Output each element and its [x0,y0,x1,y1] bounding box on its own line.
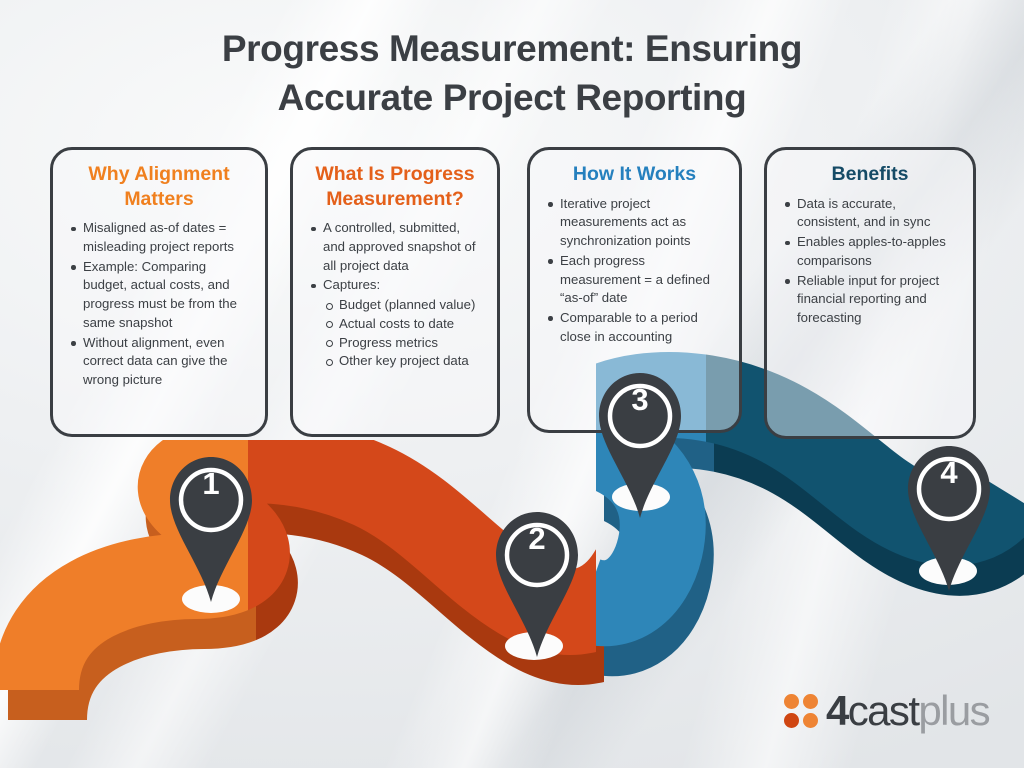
list-item: Reliable input for project financial rep… [780,272,960,328]
logo-dot [784,713,799,728]
list-item: Comparable to a period close in accounti… [543,309,726,346]
bullet-text: Iterative project measurements act as sy… [560,195,726,251]
bullet-text: Reliable input for project financial rep… [797,272,960,328]
page-title: Progress Measurement: Ensuring Accurate … [0,24,1024,122]
bullet-text: Enables apples-to-apples comparisons [797,233,960,270]
bullet-text: Without alignment, even correct data can… [83,334,252,390]
list-item: Captures: Budget (planned value) Actual … [306,276,484,371]
list-item: A controlled, submitted, and approved sn… [306,219,484,275]
card-title: What Is Progress Measurement? [306,162,484,211]
bullet-text: Captures: [323,276,484,295]
page-title-line-2: Accurate Project Reporting [0,73,1024,122]
card-bullet-list: Data is accurate, consistent, and in syn… [780,195,960,328]
list-item: Without alignment, even correct data can… [66,334,252,390]
sub-list-item: Budget (planned value) [323,296,484,315]
logo-word-part-1: 4 [826,687,848,734]
step-marker-2: 2 [494,510,580,660]
map-pin-icon [168,455,254,605]
bullet-text: Misaligned as-of dates = misleading proj… [83,219,252,256]
step-marker-3: 3 [597,371,683,521]
card-bullet-list: Misaligned as-of dates = misleading proj… [66,219,252,390]
card-title: Why Alignment Matters [66,162,252,211]
sub-list-item: Progress metrics [323,334,484,353]
list-item: Data is accurate, consistent, and in syn… [780,195,960,232]
card-title: Benefits [780,162,960,187]
brand-logo: 4castplus [784,690,989,732]
bullet-text: Each progress measurement = a defined “a… [560,252,726,308]
info-card-benefits: Benefits Data is accurate, consistent, a… [764,147,976,439]
logo-word-part-2: cast [848,687,919,734]
map-pin-icon [906,444,992,594]
list-item: Misaligned as-of dates = misleading proj… [66,219,252,256]
step-marker-1: 1 [168,455,254,605]
bullet-text: Example: Comparing budget, actual costs,… [83,258,252,333]
logo-dot [784,694,799,709]
card-title: How It Works [543,162,726,187]
card-bullet-list: A controlled, submitted, and approved sn… [306,219,484,371]
logo-word-part-3: plus [918,687,989,734]
step-marker-4: 4 [906,444,992,594]
bullet-text: A controlled, submitted, and approved sn… [323,219,484,275]
sub-list-item: Other key project data [323,352,484,371]
bullet-text: Comparable to a period close in accounti… [560,309,726,346]
list-item: Enables apples-to-apples comparisons [780,233,960,270]
sub-list-item: Actual costs to date [323,315,484,334]
info-card-what-is-progress-measurement: What Is Progress Measurement? A controll… [290,147,500,437]
list-item: Example: Comparing budget, actual costs,… [66,258,252,333]
page-title-line-1: Progress Measurement: Ensuring [0,24,1024,73]
logo-dots-icon [784,694,818,728]
map-pin-icon [494,510,580,660]
card-sub-bullet-list: Budget (planned value) Actual costs to d… [323,296,484,371]
info-card-why-alignment-matters: Why Alignment Matters Misaligned as-of d… [50,147,268,437]
bullet-text: Data is accurate, consistent, and in syn… [797,195,960,232]
logo-dot [803,713,818,728]
map-pin-icon [597,371,683,521]
card-bullet-list: Iterative project measurements act as sy… [543,195,726,347]
list-item: Iterative project measurements act as sy… [543,195,726,251]
logo-dot [803,694,818,709]
logo-wordmark: 4castplus [826,690,989,732]
list-item: Each progress measurement = a defined “a… [543,252,726,308]
